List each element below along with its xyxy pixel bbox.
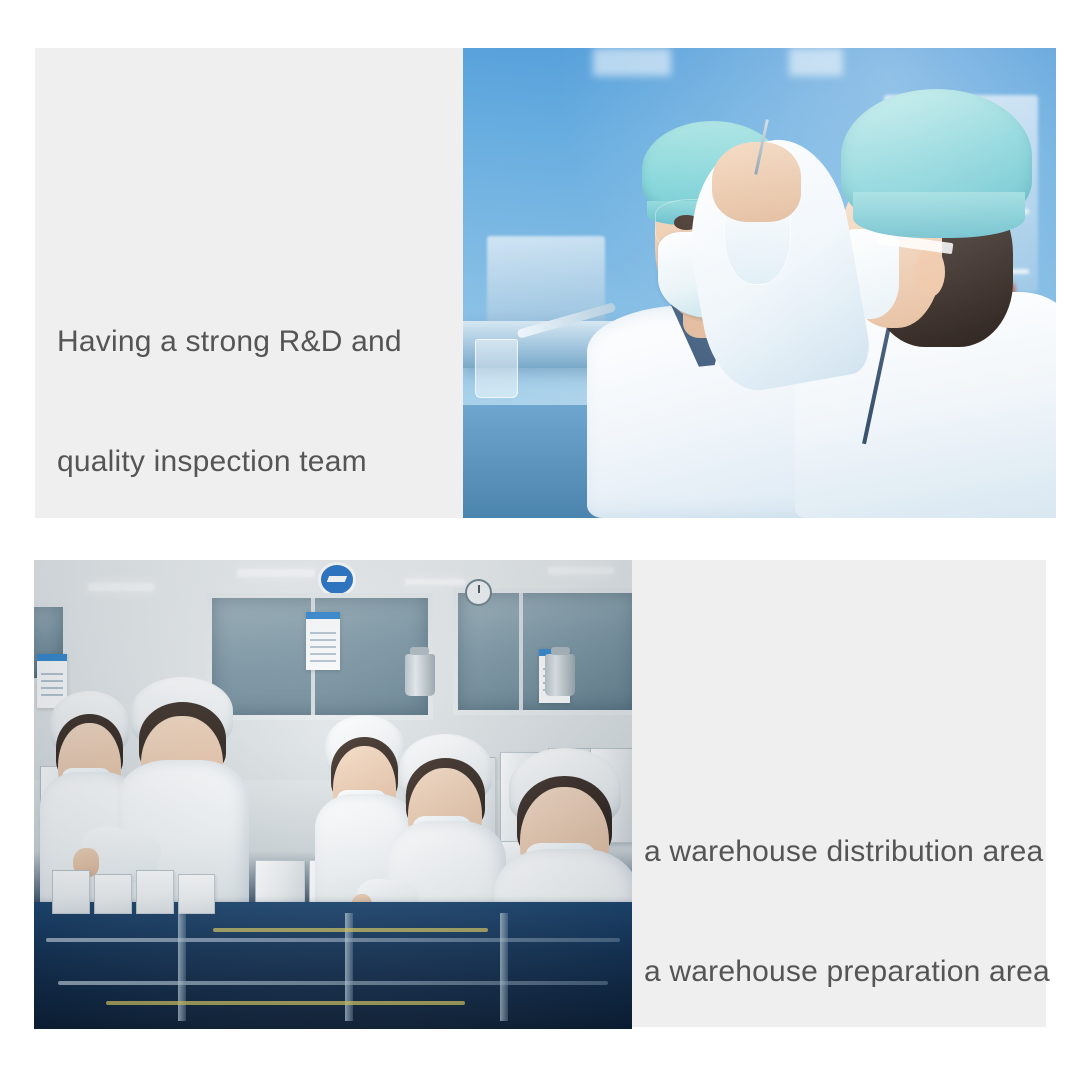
window-mullion — [519, 593, 523, 710]
warehouse-ceiling-light-icon — [88, 583, 154, 591]
table-leg — [500, 913, 508, 1022]
warehouse-packing-area-photo — [34, 560, 632, 1029]
laboratory-quality-inspection-photo — [463, 48, 1056, 518]
floor-marking-stripe — [213, 928, 488, 932]
carton-on-table — [94, 874, 132, 914]
table-leg — [178, 913, 186, 1022]
lab-ceiling-light-icon — [593, 48, 670, 76]
caption-warehouse-line-1: a warehouse distribution area — [644, 832, 1044, 872]
warehouse-ceiling-light-icon — [405, 579, 465, 586]
warehouse-notice-poster — [306, 612, 339, 671]
caption-warehouse-line-2: a warehouse preparation area — [644, 952, 1044, 992]
caption-research-quality: Having a strong R&D and quality inspecti… — [57, 242, 457, 562]
floor-marking-stripe — [106, 1001, 465, 1005]
caption-warehouse: a warehouse distribution area a warehous… — [644, 752, 1044, 1072]
warehouse-ceiling-light-icon — [237, 569, 315, 577]
carton-on-table — [178, 874, 216, 914]
technician-ear — [915, 247, 945, 297]
stainless-canister — [405, 654, 435, 696]
caption-research-quality-line-1: Having a strong R&D and — [57, 322, 457, 362]
warehouse-ceiling-light-icon — [548, 567, 614, 574]
caption-research-quality-line-2: quality inspection team — [57, 442, 457, 482]
table-rail — [58, 981, 608, 985]
table-rail — [46, 938, 620, 942]
blue-hairnet-cap — [841, 89, 1032, 224]
page-root: Having a strong R&D and quality inspecti… — [0, 0, 1080, 1080]
carton-on-table — [136, 870, 174, 914]
table-base-structure — [34, 902, 632, 1029]
carton-on-table — [52, 870, 90, 914]
gloved-hand — [712, 142, 801, 222]
warehouse-wall-sign-icon — [321, 565, 353, 594]
stainless-canister — [545, 654, 575, 696]
poster-text-lines — [310, 632, 335, 663]
lab-beaker-icon — [475, 339, 519, 397]
